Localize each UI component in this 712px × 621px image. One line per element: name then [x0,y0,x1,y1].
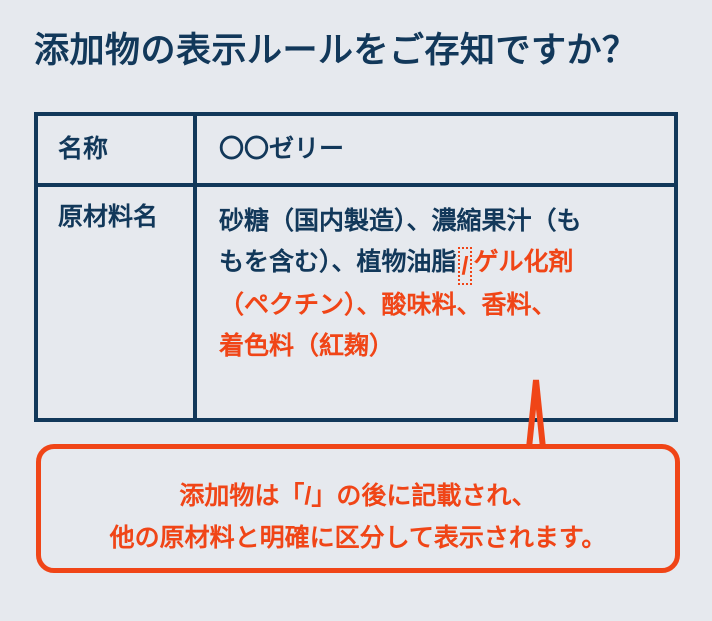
ingredient-base-line-1: 砂糖（国内製造）、濃縮果汁（も [219,207,582,235]
callout-line-1: 添加物は「/」の後に記載され、 [41,475,675,517]
food-label-table: 名称 〇〇ゼリー 原材料名 砂糖（国内製造）、濃縮果汁（も もを含む）、植物油脂… [34,112,678,422]
table-header-ingredients: 原材料名 [38,187,197,418]
callout-bubble: 添加物は「/」の後に記載され、 他の原材料と明確に区分して表示されます。 [36,444,680,573]
additive-line-3: （ペクチン）、酸味料、香料、 [219,291,557,319]
additive-line-4: 着色料（紅麹） [219,332,394,360]
ingredient-base-line-2: もを含む）、植物油脂 [219,248,457,276]
table-value-name: 〇〇ゼリー [197,116,674,183]
additive-line-2-tail: ゲル化剤 [473,248,573,276]
callout-line-2: 他の原材料と明確に区分して表示されます。 [41,517,675,559]
page-title: 添加物の表示ルールをご存知ですか？ [34,30,684,72]
infographic-root: 添加物の表示ルールをご存知ですか？ 名称 〇〇ゼリー 原材料名 砂糖（国内製造）… [0,0,712,621]
table-row: 名称 〇〇ゼリー [38,116,674,187]
table-value-ingredients: 砂糖（国内製造）、濃縮果汁（も もを含む）、植物油脂/ゲル化剤 （ペクチン）、酸… [197,187,674,418]
table-row: 原材料名 砂糖（国内製造）、濃縮果汁（も もを含む）、植物油脂/ゲル化剤 （ペク… [38,187,674,418]
callout-text: 添加物は「/」の後に記載され、 他の原材料と明確に区分して表示されます。 [41,475,675,559]
slash-separator-mark: / [458,247,473,285]
ingredients-text: 砂糖（国内製造）、濃縮果汁（も もを含む）、植物油脂/ゲル化剤 （ペクチン）、酸… [219,201,674,367]
table-header-name: 名称 [38,116,197,183]
